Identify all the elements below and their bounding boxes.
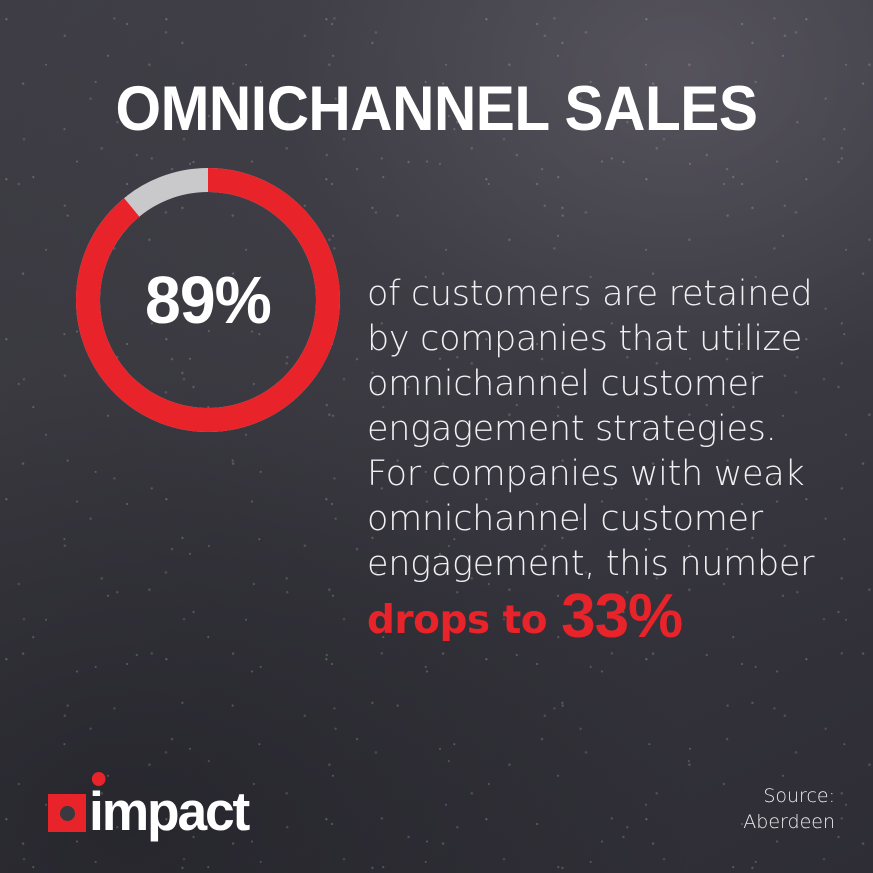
page-title: OMNICHANNEL SALES	[31, 78, 843, 141]
source-attribution: Source: Aberdeen	[743, 783, 835, 835]
body-line-3: omnichannel customer	[367, 362, 835, 407]
drops-to-value: 33%	[561, 582, 682, 651]
source-name: Aberdeen	[743, 809, 835, 835]
donut-chart: 89%	[76, 168, 340, 432]
impact-logo: impact	[48, 775, 253, 833]
logo-square-icon	[48, 794, 86, 832]
body-copy: of customers are retained by companies t…	[367, 272, 835, 648]
body-line-5: For companies with weak	[367, 452, 835, 497]
body-line-6: omnichannel customer	[367, 497, 835, 542]
logo-i-dot-icon	[92, 772, 106, 786]
logo-circle-cutout-icon	[60, 806, 75, 821]
drops-to-label: drops to	[367, 598, 547, 643]
source-label: Source:	[743, 783, 835, 809]
donut-value-label: 89%	[81, 168, 334, 432]
infographic-canvas: OMNICHANNEL SALES 89% of customers are r…	[0, 0, 873, 873]
body-line-7: engagement, this number	[367, 542, 835, 587]
drops-line: drops to33%	[367, 587, 835, 648]
body-line-2: by companies that utilize	[367, 317, 835, 362]
logo-wordmark-text: impact	[89, 780, 248, 842]
logo-wordmark: impact	[89, 789, 248, 833]
body-line-4: engagement strategies.	[367, 407, 835, 452]
body-line-1: of customers are retained	[367, 272, 835, 317]
